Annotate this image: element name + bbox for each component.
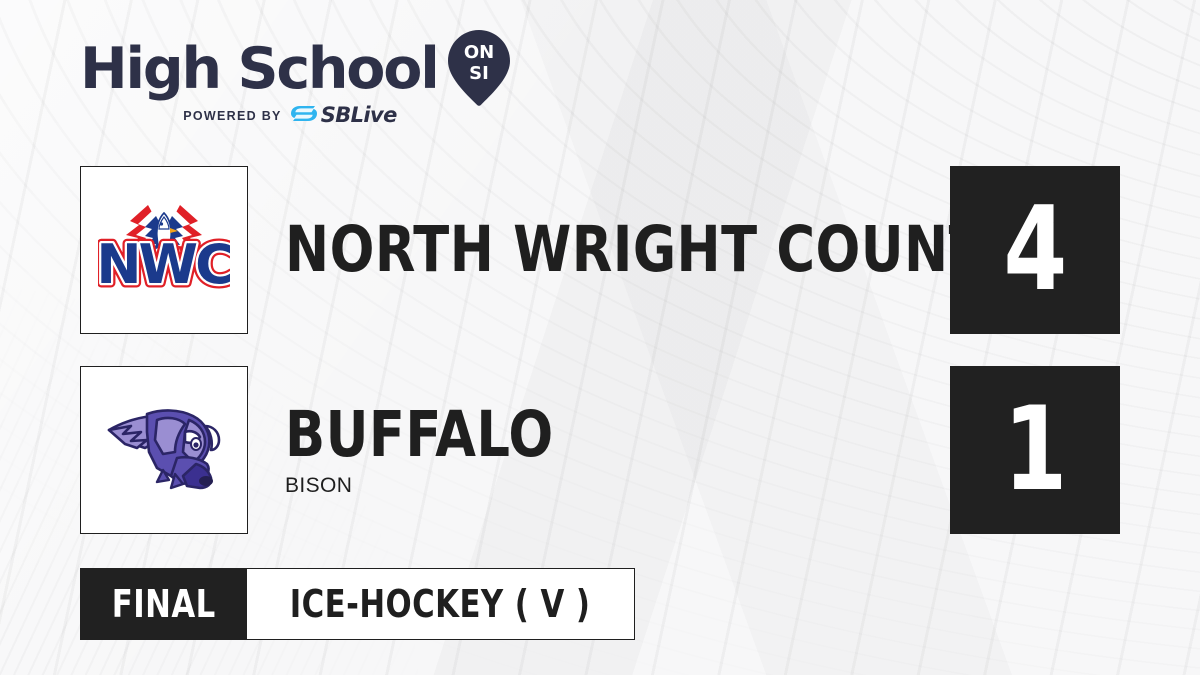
team-logo-box: NWC NWC NWC (80, 166, 248, 334)
game-status-bar: FINAL ICE-HOCKEY ( V ) (80, 568, 635, 640)
north-wright-county-eagle-logo: NWC NWC NWC (98, 191, 230, 309)
buffalo-bison-logo (101, 396, 227, 504)
game-state-badge: FINAL (80, 568, 247, 640)
nwc-letters: NWC NWC NWC (98, 233, 230, 296)
team-name: BUFFALO (285, 403, 554, 467)
brand-title: High School (80, 40, 438, 98)
scorecard: High School ON SI POWERED BY SBLive (0, 0, 1200, 675)
onsi-pin-line1: ON (463, 42, 493, 63)
team-score: 1 (1003, 392, 1067, 508)
team-logo-box (80, 366, 248, 534)
brand-lockup: High School ON SI POWERED BY SBLive (80, 38, 510, 134)
powered-by-label: POWERED BY (183, 109, 281, 123)
team-name: NORTH WRIGHT COUNTY (285, 218, 1024, 282)
powered-by-row: POWERED BY SBLive (80, 105, 500, 126)
onsi-pin-icon: ON SI (448, 30, 510, 111)
svg-text:NWC: NWC (98, 233, 230, 296)
team-info: BUFFALO BISON (285, 366, 574, 534)
onsi-pin-line2: SI (469, 63, 489, 84)
sblive-wordmark: SBLive (321, 105, 397, 126)
team-score-box: 4 (950, 166, 1120, 334)
team-score: 4 (1003, 192, 1067, 308)
game-state-label: FINAL (112, 582, 216, 626)
sport-label-box: ICE-HOCKEY ( V ) (247, 568, 634, 640)
team-score-box: 1 (950, 366, 1120, 534)
sport-label: ICE-HOCKEY ( V ) (290, 582, 591, 626)
sblive-mark-icon (291, 105, 317, 126)
team-mascot: BISON (285, 474, 574, 498)
sblive-logo: SBLive (291, 105, 397, 126)
